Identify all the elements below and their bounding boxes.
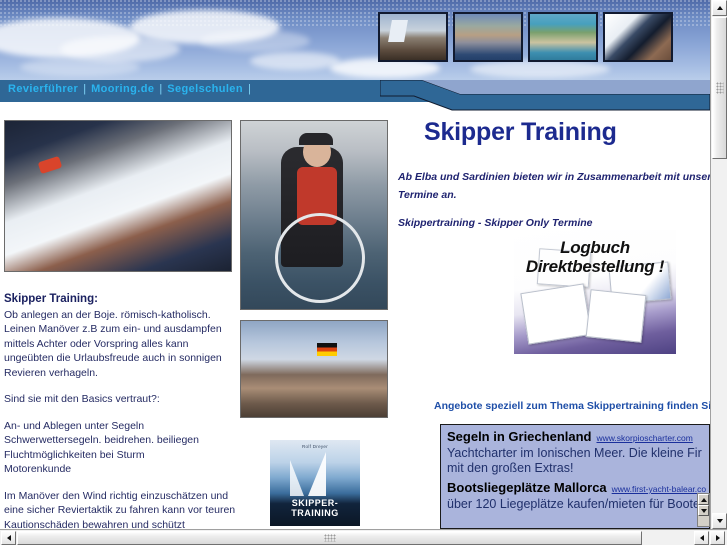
left-paragraph-2: Im Manöver den Wind richtig einzuschätze… [4,489,236,530]
scroll-up-button[interactable] [712,0,727,16]
cloud-shape [250,52,340,70]
cloud-shape [20,58,140,76]
horizontal-scroll-thumb[interactable] [17,531,642,545]
left-heading: Skipper Training: [4,292,236,307]
link-description-line: Yachtcharter im Ionischen Meer. Die klei… [447,446,703,461]
intro-text-block: Ab Elba und Sardinien bieten wir in Zusa… [398,168,710,232]
page-vertical-scrollbar[interactable] [710,0,727,529]
chevron-up-icon [717,6,723,10]
book-author-label: Rolf Dreyer [270,444,360,449]
scroll-down-button[interactable] [712,513,727,529]
photo-crew-on-deck [4,120,232,272]
book-title-label: SKIPPER- TRAINING [270,498,360,518]
chevron-right-icon [716,535,720,541]
nav-separator: | [159,83,162,95]
logbuch-page-sheet [520,283,591,344]
nav-separator: | [248,83,251,95]
scroll-thumb-grip [324,535,335,542]
chevron-up-icon [701,498,707,502]
logbuch-title-line2: Direktbestellung ! [526,257,664,276]
book-sail-shape [308,452,326,496]
browser-window: Revierführer | Mooring.de | Segelschulen… [0,0,727,545]
intro-line-2: Termine an. [398,186,710,204]
photo-skipper-at-helm [240,120,388,310]
helm-figure-cap [299,133,333,145]
book-title-line1: SKIPPER- [292,498,339,508]
nav-separator: | [83,83,86,95]
page-content: Skipper Training: Ob anlegen an der Boje… [0,102,710,529]
nav-item-segelschulen[interactable]: Segelschulen [167,83,243,95]
navbar-link-list: Revierführer | Mooring.de | Segelschulen… [8,83,256,95]
cloud-shape [200,30,310,52]
link-url[interactable]: www.first-yacht-balear.co [612,484,706,494]
chevron-left-icon [7,535,11,541]
page-viewport: Revierführer | Mooring.de | Segelschulen… [0,0,710,529]
left-skill-item: An- und Ablegen unter Segeln [4,419,236,434]
link-title: Segeln in Griechenland [447,429,591,444]
banner-thumbnail-boat-flag[interactable] [378,12,448,62]
left-text-column: Skipper Training: Ob anlegen an der Boje… [4,292,236,529]
chevron-down-icon [717,519,723,523]
left-question: Sind sie mit den Basics vertraut?: [4,392,236,407]
photo-deck-with-flag [240,320,388,418]
navbar-angled-band [380,80,710,120]
intro-line-1: Ab Elba und Sardinien bieten wir in Zusa… [398,168,710,186]
banner-thumbnail-crew[interactable] [603,12,673,62]
link-entry[interactable]: Segeln in Griechenlandwww.skorpioscharte… [441,425,709,476]
cloud-shape [470,60,610,78]
banner-thumbnail-harbour[interactable] [453,12,523,62]
link-description-line: mit den großen Extras! [447,461,703,476]
intro-spacer [398,204,710,214]
link-title: Bootsliegeplätze Mallorca [447,480,607,495]
left-skill-item: Schwerwettersegeln. beidrehen. beiliegen [4,433,236,448]
site-banner [0,0,710,80]
page-horizontal-scrollbar[interactable] [0,529,727,545]
banner-thumbnail-strip [378,12,673,62]
nav-item-mooring[interactable]: Mooring.de [91,83,154,95]
page-title: Skipper Training [424,118,617,147]
scroll-left-button-secondary[interactable] [694,531,709,545]
scroll-left-button[interactable] [1,531,16,545]
chevron-down-icon [701,509,707,513]
helm-steering-wheel [275,213,365,303]
link-url[interactable]: www.skorpioscharter.com [596,433,692,443]
scroll-thumb-grip [716,83,723,94]
chevron-left-icon [700,535,704,541]
links-scroll-up-button[interactable] [698,494,709,505]
logbuch-banner-image[interactable]: Logbuch Direktbestellung ! [514,230,676,354]
book-cover-skipper-training[interactable]: Rolf Dreyer SKIPPER- TRAINING [270,440,360,526]
link-description-line: über 120 Liegeplätze kaufen/mieten für B… [447,497,703,512]
book-sail-shape [290,460,304,496]
link-entry[interactable]: Bootsliegeplätze Mallorcawww.first-yacht… [441,476,709,512]
logbuch-title: Logbuch Direktbestellung ! [514,238,676,276]
left-skill-item: Fluchtmöglichkeiten bei Sturm [4,448,236,463]
nav-item-revierfuehrer[interactable]: Revierführer [8,83,78,95]
vertical-scroll-thumb[interactable] [712,17,727,159]
angebote-text: Angebote speziell zum Thema Skippertrain… [434,400,710,412]
scroll-right-button[interactable] [710,531,725,545]
logbuch-title-line1: Logbuch [560,238,630,257]
book-title-line2: TRAINING [291,508,339,518]
partner-links-box: Segeln in Griechenlandwww.skorpioscharte… [440,424,710,529]
left-paragraph-1: Ob anlegen an der Boje. römisch-katholis… [4,308,236,381]
banner-thumbnail-bay[interactable] [528,12,598,62]
links-scroll-down-button[interactable] [698,505,709,516]
links-box-vertical-scrollbar[interactable] [697,493,710,527]
left-skill-item: Motorenkunde [4,462,236,477]
logbuch-page-sheet [586,289,647,343]
